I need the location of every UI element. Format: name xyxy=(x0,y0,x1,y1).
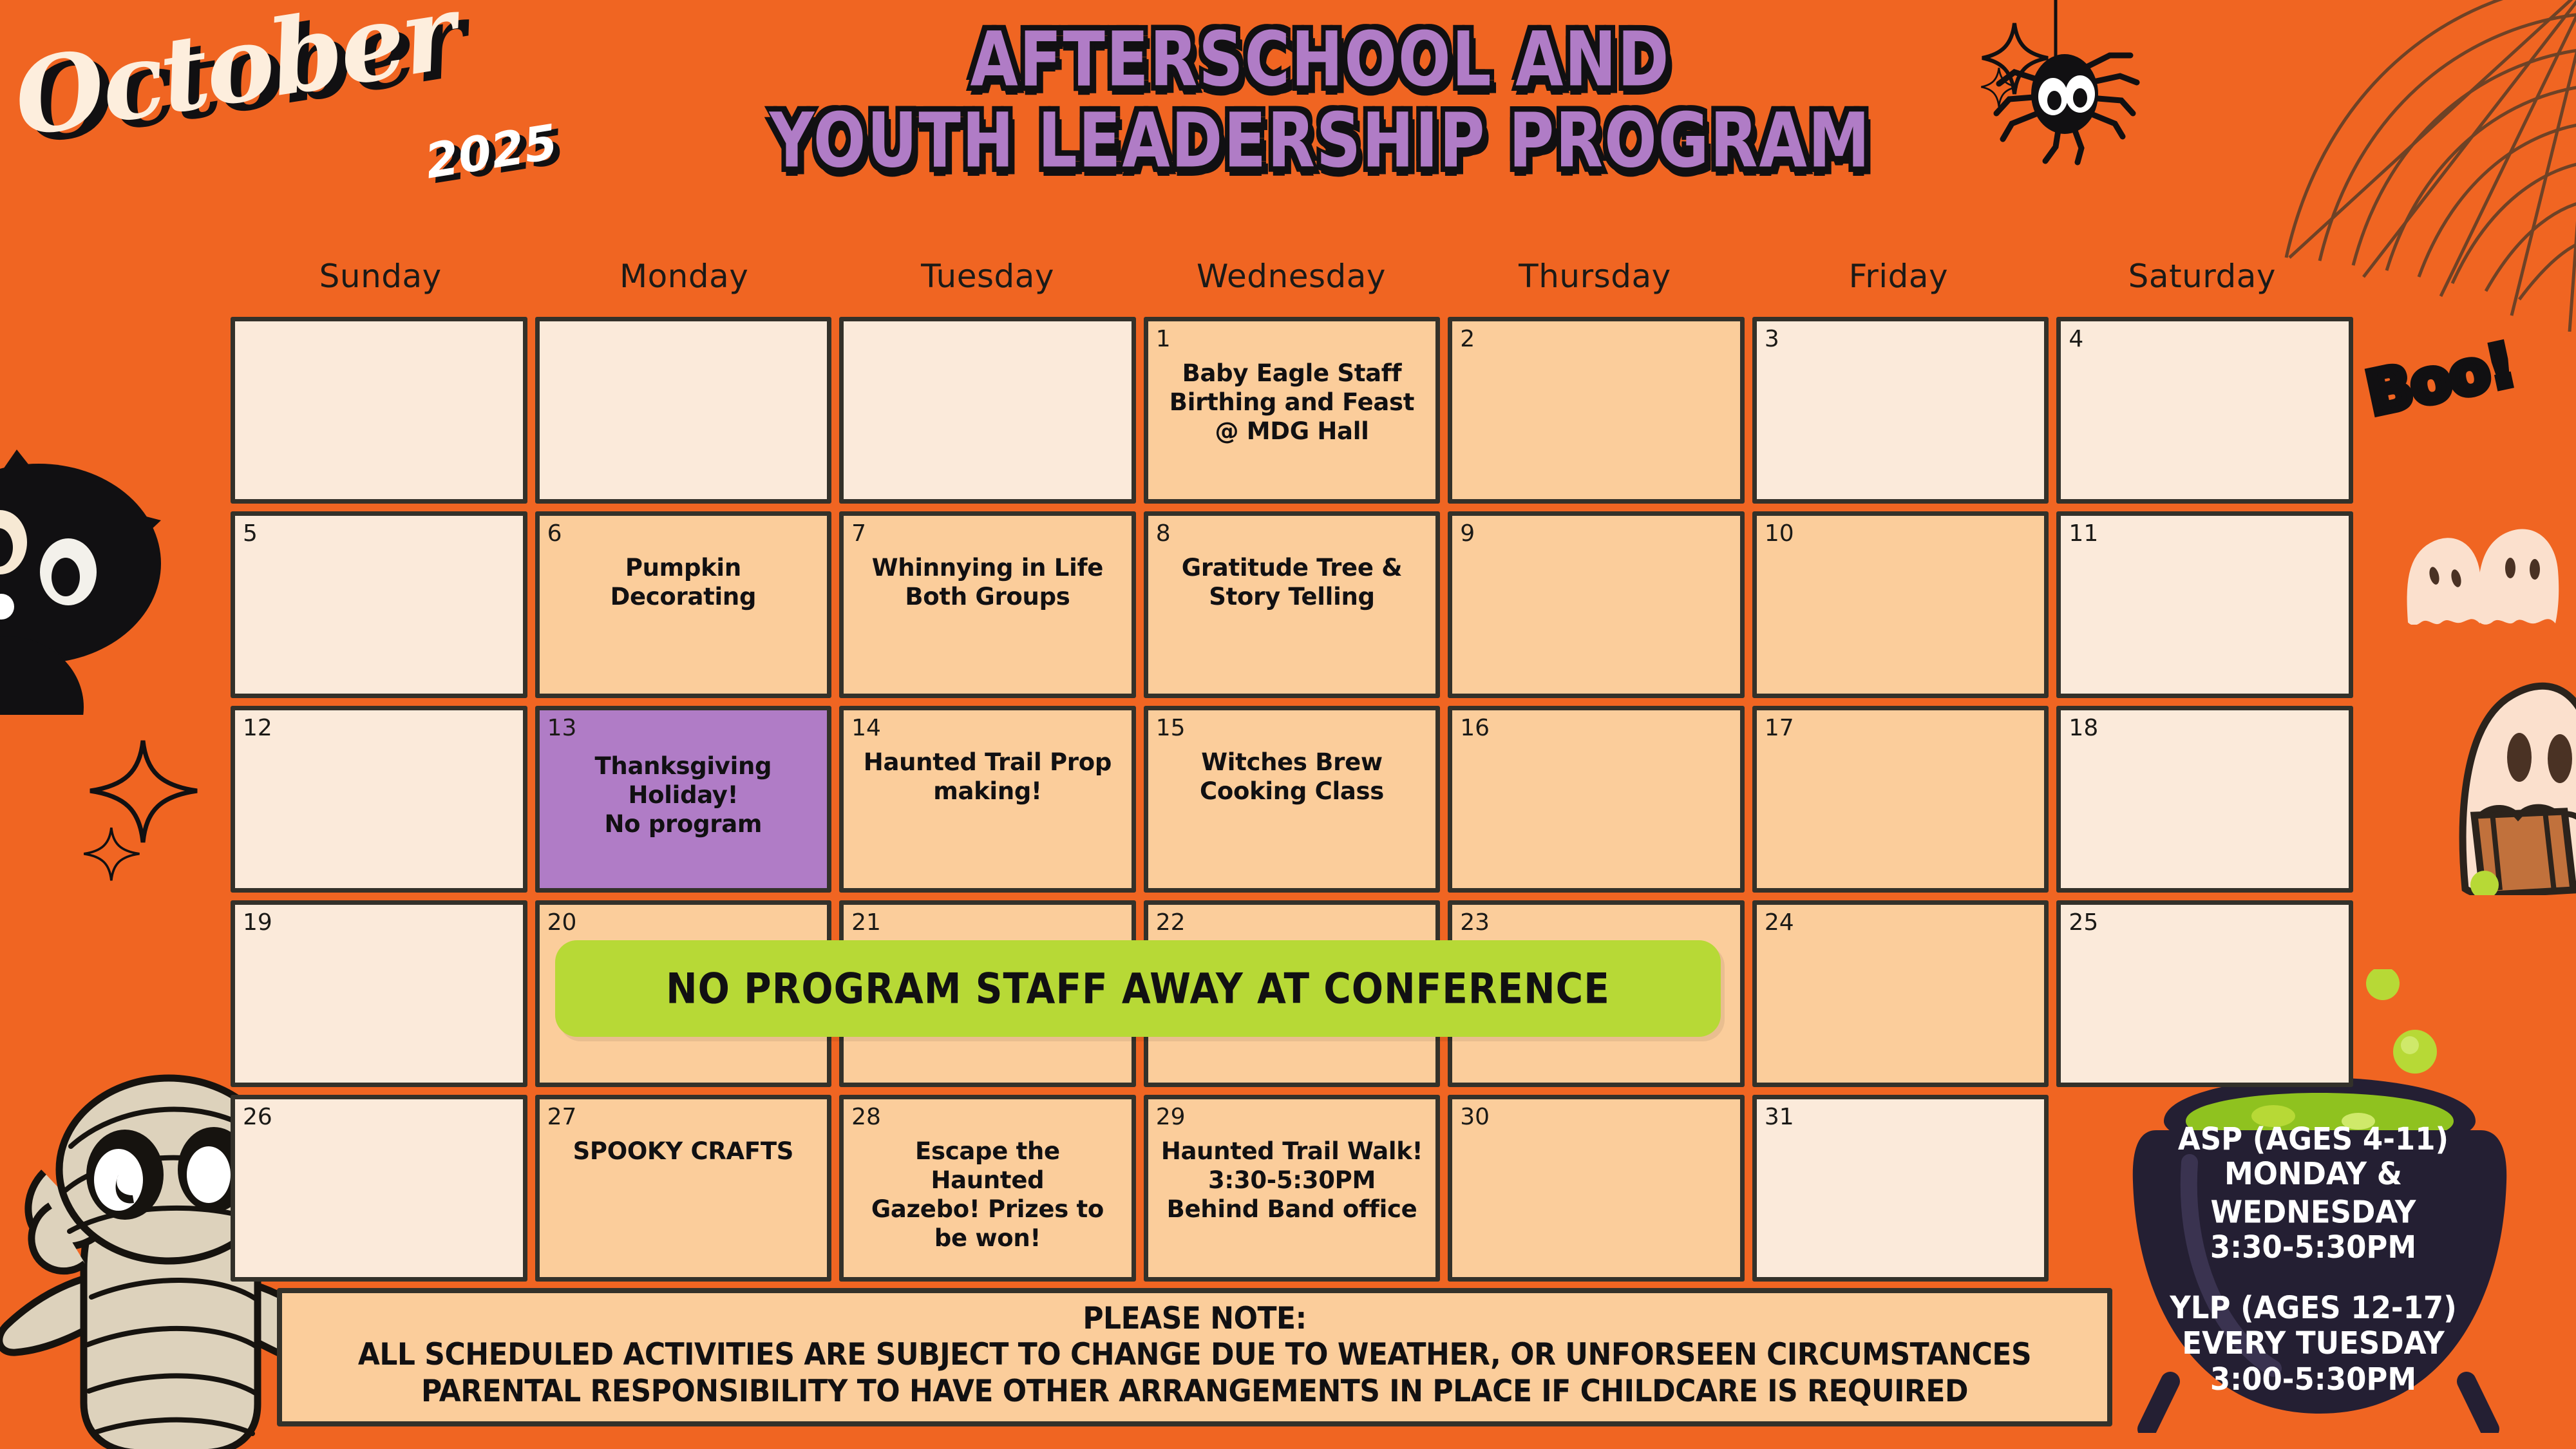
day-number: 3 xyxy=(1765,328,2037,351)
calendar-day-18[interactable]: 18 xyxy=(2056,706,2353,893)
day-name-row: SundayMondayTuesdayWednesdayThursdayFrid… xyxy=(232,258,2351,295)
calendar-day-31[interactable]: 31 xyxy=(1752,1095,2049,1282)
ghost-with-bag-icon xyxy=(2396,650,2576,895)
day-number: 10 xyxy=(1765,522,2037,545)
title-line-2: YOUTH LEADERSHIP PROGRAM xyxy=(708,100,1932,182)
day-name-sunday: Sunday xyxy=(232,258,529,295)
day-number: 9 xyxy=(1460,522,1732,545)
day-event-text: Whinnying in LifeBoth Groups xyxy=(851,553,1124,611)
boo-text: Boo! xyxy=(2362,332,2546,461)
calendar-day-4[interactable]: 4 xyxy=(2056,317,2353,504)
calendar-day-17[interactable]: 17 xyxy=(1752,706,2049,893)
calendar-day-27[interactable]: 27SPOOKY CRAFTS xyxy=(535,1095,832,1282)
day-number: 12 xyxy=(243,717,515,740)
day-number: 19 xyxy=(243,911,515,934)
day-number: 26 xyxy=(243,1106,515,1129)
calendar-day-11[interactable]: 11 xyxy=(2056,511,2353,698)
month-wordmark: October 2025 xyxy=(13,5,592,218)
calendar-day-10[interactable]: 10 xyxy=(1752,511,2049,698)
calendar-day-empty[interactable] xyxy=(231,317,527,504)
day-number: 31 xyxy=(1765,1106,2037,1129)
calendar-day-3[interactable]: 3 xyxy=(1752,317,2049,504)
calendar-day-13[interactable]: 13ThanksgivingHoliday!No program xyxy=(535,706,832,893)
day-number: 1 xyxy=(1156,328,1428,351)
black-cat-icon xyxy=(0,444,232,715)
note-line-1: ALL SCHEDULED ACTIVITIES ARE SUBJECT TO … xyxy=(282,1336,2107,1375)
day-number: 7 xyxy=(851,522,1124,545)
ylp-time: 3:00-5:30PM xyxy=(2146,1361,2481,1399)
please-note-box: PLEASE NOTE: ALL SCHEDULED ACTIVITIES AR… xyxy=(277,1288,2112,1426)
day-number: 22 xyxy=(1156,911,1428,934)
calendar-day-5[interactable]: 5 xyxy=(231,511,527,698)
sparkle-icon xyxy=(84,734,213,902)
day-number: 21 xyxy=(851,911,1124,934)
day-name-wednesday: Wednesday xyxy=(1142,258,1439,295)
day-name-friday: Friday xyxy=(1750,258,2047,295)
calendar-day-25[interactable]: 25 xyxy=(2056,900,2353,1087)
day-event-text: SPOOKY CRAFTS xyxy=(547,1137,820,1166)
title-line-1: AFTERSCHOOL AND xyxy=(708,19,1932,100)
year-label: 2025 xyxy=(422,114,562,189)
calendar-day-29[interactable]: 29Haunted Trail Walk!3:30-5:30PMBehind B… xyxy=(1144,1095,1441,1282)
day-number: 16 xyxy=(1460,717,1732,740)
calendar-grid: 1Baby Eagle StaffBirthing and Feast@ MDG… xyxy=(231,317,2353,1282)
day-number: 28 xyxy=(851,1106,1124,1129)
calendar-day-6[interactable]: 6PumpkinDecorating xyxy=(535,511,832,698)
spacer xyxy=(2146,1264,2481,1290)
day-number: 6 xyxy=(547,522,820,545)
day-number: 5 xyxy=(243,522,515,545)
day-event-text: Escape the HauntedGazebo! Prizes tobe wo… xyxy=(851,1137,1124,1253)
day-event-text: Haunted Trail Propmaking! xyxy=(851,748,1124,806)
day-name-monday: Monday xyxy=(535,258,832,295)
ylp-days: EVERY TUESDAY xyxy=(2146,1325,2481,1363)
asp-title: ASP (AGES 4-11) xyxy=(2146,1121,2481,1159)
day-number: 29 xyxy=(1156,1106,1428,1129)
day-number: 15 xyxy=(1156,717,1428,740)
sparkle-icon xyxy=(1977,19,2054,109)
day-event-text: ThanksgivingHoliday!No program xyxy=(547,752,820,838)
calendar-day-9[interactable]: 9 xyxy=(1448,511,1745,698)
day-number: 14 xyxy=(851,717,1124,740)
no-program-banner: NO PROGRAM STAFF AWAY AT CONFERENCE xyxy=(555,940,1721,1037)
ghost-icon xyxy=(2389,509,2563,625)
day-event-text: Gratitude Tree &Story Telling xyxy=(1156,553,1428,611)
day-name-saturday: Saturday xyxy=(2054,258,2351,295)
spider-icon xyxy=(1984,0,2151,187)
day-number: 8 xyxy=(1156,522,1428,545)
program-times-panel: ASP (AGES 4-11) MONDAY & WEDNESDAY 3:30-… xyxy=(2146,1121,2481,1397)
calendar-day-8[interactable]: 8Gratitude Tree &Story Telling xyxy=(1144,511,1441,698)
calendar-day-12[interactable]: 12 xyxy=(231,706,527,893)
calendar-day-1[interactable]: 1Baby Eagle StaffBirthing and Feast@ MDG… xyxy=(1144,317,1441,504)
day-number: 11 xyxy=(2069,522,2341,545)
day-event-text: Haunted Trail Walk!3:30-5:30PMBehind Ban… xyxy=(1156,1137,1428,1224)
note-line-2: PARENTAL RESPONSIBILITY TO HAVE OTHER AR… xyxy=(282,1372,2107,1411)
day-number: 25 xyxy=(2069,911,2341,934)
day-event-text: PumpkinDecorating xyxy=(547,553,820,611)
calendar-day-empty[interactable] xyxy=(535,317,832,504)
day-name-thursday: Thursday xyxy=(1446,258,1743,295)
day-number: 18 xyxy=(2069,717,2341,740)
calendar-day-26[interactable]: 26 xyxy=(231,1095,527,1282)
calendar-day-15[interactable]: 15Witches BrewCooking Class xyxy=(1144,706,1441,893)
page-title: AFTERSCHOOL AND YOUTH LEADERSHIP PROGRAM xyxy=(708,19,1932,181)
boo-label: Boo! xyxy=(2361,330,2521,429)
day-number: 30 xyxy=(1460,1106,1732,1129)
day-number: 13 xyxy=(547,717,820,740)
ylp-title: YLP (AGES 12-17) xyxy=(2146,1289,2481,1327)
asp-time: 3:30-5:30PM xyxy=(2146,1228,2481,1266)
calendar-day-24[interactable]: 24 xyxy=(1752,900,2049,1087)
day-number: 27 xyxy=(547,1106,820,1129)
day-event-text: Baby Eagle StaffBirthing and Feast@ MDG … xyxy=(1156,359,1428,446)
calendar-day-16[interactable]: 16 xyxy=(1448,706,1745,893)
day-number: 20 xyxy=(547,911,820,934)
day-number: 2 xyxy=(1460,328,1732,351)
day-number: 4 xyxy=(2069,328,2341,351)
day-number: 23 xyxy=(1460,911,1732,934)
calendar-day-28[interactable]: 28Escape the HauntedGazebo! Prizes tobe … xyxy=(839,1095,1136,1282)
day-number: 24 xyxy=(1765,911,2037,934)
calendar-day-14[interactable]: 14Haunted Trail Propmaking! xyxy=(839,706,1136,893)
asp-days: MONDAY & WEDNESDAY xyxy=(2146,1155,2481,1231)
no-program-banner-label: NO PROGRAM STAFF AWAY AT CONFERENCE xyxy=(666,964,1610,1013)
calendar-day-2[interactable]: 2 xyxy=(1448,317,1745,504)
note-heading: PLEASE NOTE: xyxy=(282,1300,2107,1339)
month-label: October xyxy=(6,0,462,160)
calendar-day-7[interactable]: 7Whinnying in LifeBoth Groups xyxy=(839,511,1136,698)
day-name-tuesday: Tuesday xyxy=(839,258,1136,295)
day-number: 17 xyxy=(1765,717,2037,740)
calendar-day-empty[interactable] xyxy=(839,317,1136,504)
day-event-text: Witches BrewCooking Class xyxy=(1156,748,1428,806)
calendar-day-19[interactable]: 19 xyxy=(231,900,527,1087)
calendar-day-30[interactable]: 30 xyxy=(1448,1095,1745,1282)
